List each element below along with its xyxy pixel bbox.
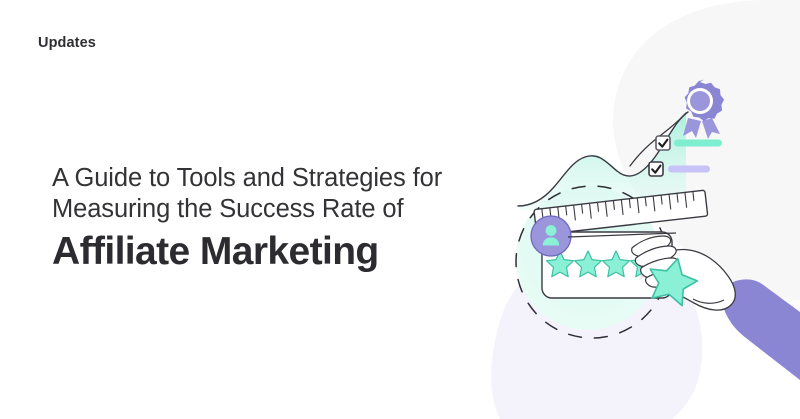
page-title: A Guide to Tools and Strategies for Meas… <box>52 163 502 276</box>
checkbox-checked-icon[interactable] <box>656 136 670 150</box>
award-rosette-icon <box>683 79 724 139</box>
illustration-svg <box>480 0 800 419</box>
checklist-bar-mint <box>674 140 722 147</box>
headline-line-2: Measuring the Success Rate of <box>52 194 502 225</box>
checkbox-checked-icon[interactable] <box>649 162 663 176</box>
checklist-row-1[interactable] <box>656 136 722 150</box>
headline-line-3: Affiliate Marketing <box>52 228 502 276</box>
user-avatar-icon[interactable] <box>531 216 571 256</box>
category-label: Updates <box>38 36 96 51</box>
hand-placing-star <box>632 236 800 380</box>
blog-banner: Updates A Guide to Tools and Strategies … <box>0 0 800 419</box>
checklist-bar-lavender <box>668 166 710 173</box>
text-column: Updates A Guide to Tools and Strategies … <box>0 0 520 419</box>
headline-line-1: A Guide to Tools and Strategies for <box>52 163 502 194</box>
illustration <box>480 0 800 419</box>
